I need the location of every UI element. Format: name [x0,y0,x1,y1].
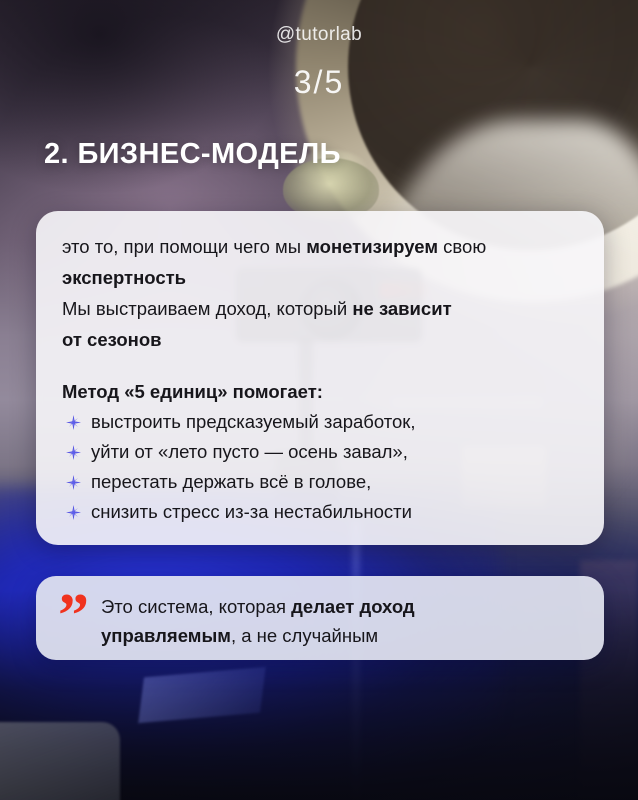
quote-text: Это система, которая делает доход управл… [101,590,415,650]
account-handle: @tutorlab [0,24,638,46]
lead-line3-a: Мы выстраиваем доход, который [62,298,352,319]
sparkle-icon [66,497,81,527]
sparkle-icon [66,467,81,497]
lead-line3-bold: не зависит [352,298,451,319]
list-item: уйти от «лето пусто — осень завал», [62,437,578,467]
lead-paragraph: это то, при помощи чего мы монетизируем … [62,231,578,355]
quote-line1-bold: делает доход [291,596,415,617]
page-title: 2. БИЗНЕС-МОДЕЛЬ [44,138,341,171]
list-item-label: выстроить предсказуемый заработок, [91,407,416,437]
list-item-label: перестать держать всё в голове, [91,467,371,497]
sparkle-icon [66,407,81,437]
list-item: выстроить предсказуемый заработок, [62,407,578,437]
lead-line1-c: свою [438,236,486,257]
quote-line2-bold: управляемым [101,625,231,646]
benefit-list: выстроить предсказуемый заработок, уйти … [62,407,578,527]
slide-counter: 3/5 [0,64,638,101]
main-card: это то, при помощи чего мы монетизируем … [36,211,604,545]
quote-line1-a: Это система, которая [101,596,291,617]
lead-line4-bold: от сезонов [62,329,162,350]
list-item-label: снизить стресс из-за нестабильности [91,497,412,527]
slide-content: @tutorlab 3/5 2. БИЗНЕС-МОДЕЛЬ это то, п… [0,0,638,800]
sparkle-icon [66,437,81,467]
list-item: перестать держать всё в голове, [62,467,578,497]
slide-canvas: @tutorlab 3/5 2. БИЗНЕС-МОДЕЛЬ это то, п… [0,0,638,800]
lead-line2-bold: экспертность [62,267,186,288]
list-item-label: уйти от «лето пусто — осень завал», [91,437,408,467]
quote-line2-c: , а не случайным [231,625,378,646]
list-item: снизить стресс из-за нестабильности [62,497,578,527]
lead-line1-a: это то, при помощи чего мы [62,236,306,257]
lead-line1-bold: монетизируем [306,236,438,257]
quote-card: ” Это система, которая делает доход упра… [36,576,604,660]
method-heading: Метод «5 единиц» помогает: [62,381,578,403]
quote-mark-icon: ” [58,596,87,636]
